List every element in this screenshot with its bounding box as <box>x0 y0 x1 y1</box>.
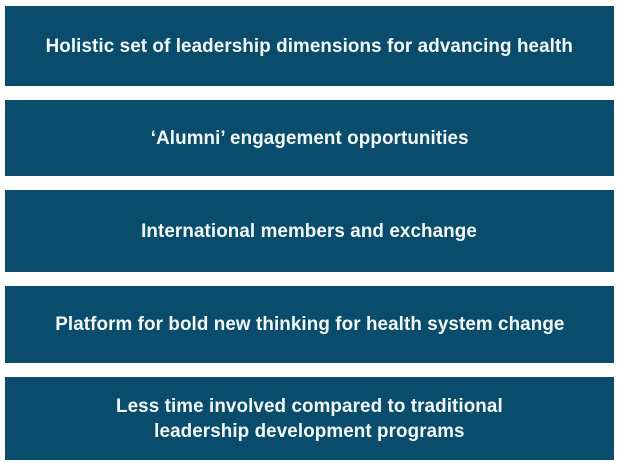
benefit-bar-platform-bold-new-thinking: Platform for bold new thinking for healt… <box>5 286 614 363</box>
benefit-bar-label: Less time involved compared to tradition… <box>116 394 503 444</box>
benefit-bar-less-time-involved: Less time involved compared to tradition… <box>5 377 614 460</box>
benefit-bar-international-members-exchange: International members and exchange <box>5 190 614 272</box>
benefit-bar-label: ‘Alumni’ engagement opportunities <box>151 126 469 151</box>
benefit-bar-label: Holistic set of leadership dimensions fo… <box>46 34 573 59</box>
benefit-bar-holistic-leadership-dimensions: Holistic set of leadership dimensions fo… <box>5 6 614 86</box>
benefits-bar-list: Holistic set of leadership dimensions fo… <box>0 0 619 462</box>
benefit-bar-label: International members and exchange <box>142 219 478 244</box>
benefit-bar-label: Platform for bold new thinking for healt… <box>55 312 564 337</box>
benefit-bar-alumni-engagement: ‘Alumni’ engagement opportunities <box>5 100 614 176</box>
